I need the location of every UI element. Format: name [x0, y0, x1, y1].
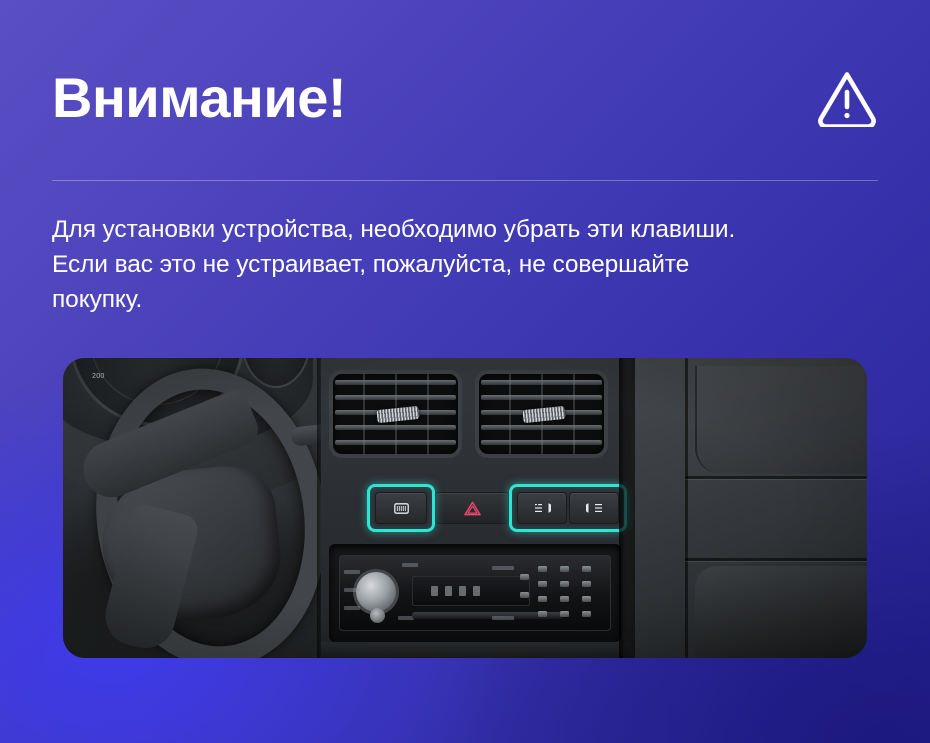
glove-box-lid [695, 566, 867, 658]
rear-fog-light-button[interactable] [569, 492, 619, 524]
rear-fog-light-icon [586, 502, 603, 514]
warning-triangle-icon [816, 69, 878, 127]
car-stereo-faceplate [339, 555, 611, 631]
dashboard-photo-content: 140 160 180 200 km/h E H C [63, 358, 867, 658]
page-title: Внимание! [52, 70, 346, 126]
passenger-airbag-panel [635, 358, 867, 658]
speed-tick-200: 200 [92, 371, 105, 380]
front-fog-light-icon [534, 502, 551, 514]
air-vent-right [475, 370, 608, 458]
air-vent-left-wheel[interactable] [376, 406, 419, 423]
airbag-lid [695, 366, 867, 474]
rear-defogger-icon [394, 503, 409, 514]
hazard-lights-button[interactable] [435, 492, 509, 524]
slide-header: Внимание! [52, 52, 878, 144]
panel-seam-lower [685, 558, 867, 561]
air-vent-left [329, 370, 462, 458]
stereo-volume-knob[interactable] [356, 572, 396, 612]
car-stereo-head-unit [329, 544, 621, 642]
header-divider [52, 180, 878, 181]
stereo-preset-button-grid[interactable] [538, 566, 608, 624]
stereo-secondary-knob[interactable] [370, 608, 385, 623]
dashboard-photo: 140 160 180 200 km/h E H C [63, 358, 867, 658]
lower-console [321, 642, 631, 658]
rear-defogger-button[interactable] [375, 492, 427, 524]
warning-body-line-2: Если вас это не устраивает, пожалуйста, … [52, 248, 862, 283]
warning-body-line-1: Для установки устройства, необходимо убр… [52, 213, 862, 248]
air-vent-right-wheel[interactable] [522, 406, 565, 423]
front-fog-light-button[interactable] [517, 492, 567, 524]
stereo-display [412, 576, 530, 606]
panel-seam-upper [685, 476, 867, 479]
warning-body-text: Для установки устройства, необходимо убр… [52, 213, 862, 317]
centre-stack [321, 358, 631, 658]
panel-seam-vertical [685, 358, 688, 658]
warning-slide: Внимание! Для установки устройства, необ… [0, 0, 930, 743]
warning-body-line-3: покупку. [52, 283, 862, 318]
dashboard-button-row [321, 486, 631, 532]
speedometer-unit-label: km/h [63, 358, 76, 362]
speed-tick-180: 180 [88, 358, 101, 360]
hazard-triangle-icon [464, 501, 481, 516]
